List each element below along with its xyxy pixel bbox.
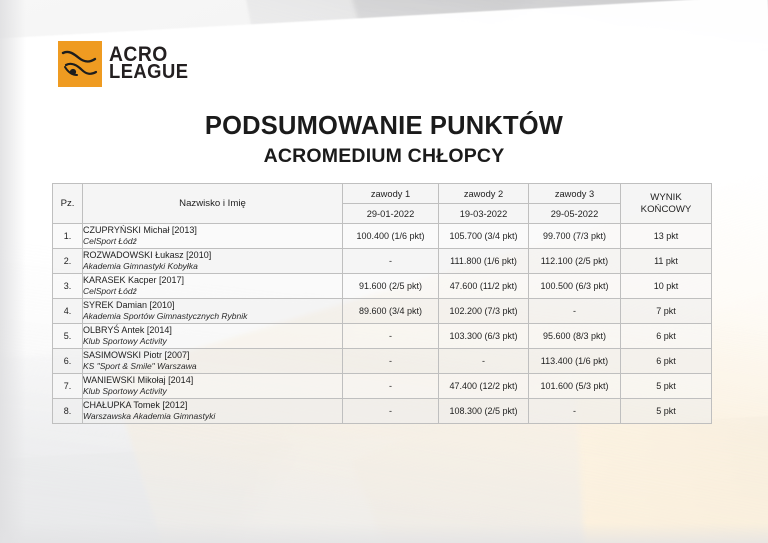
cell-final-score: 5 pkt	[621, 374, 712, 399]
athlete-name: CHAŁUPKA Tomek [2012]	[83, 400, 342, 411]
cell-event-1: -	[343, 399, 439, 424]
table-row: 5. OLBRYŚ Antek [2014] Klub Sportowy Act…	[53, 324, 712, 349]
logo-line-league: LEAGUE	[109, 64, 188, 82]
cell-event-2: 102.200 (7/3 pkt)	[439, 299, 529, 324]
column-header-event-3-date: 29-05-2022	[529, 204, 621, 224]
cell-event-1: 100.400 (1/6 pkt)	[343, 224, 439, 249]
cell-event-2: 47.400 (12/2 pkt)	[439, 374, 529, 399]
cell-rank: 2.	[53, 249, 83, 274]
final-score-label-line2: KOŃCOWY	[641, 204, 692, 215]
cell-final-score: 10 pkt	[621, 274, 712, 299]
table-row: 7. WANIEWSKI Mikołaj [2014] Klub Sportow…	[53, 374, 712, 399]
cell-final-score: 11 pkt	[621, 249, 712, 274]
cell-final-score: 5 pkt	[621, 399, 712, 424]
athlete-name: CZUPRYŃSKI Michał [2013]	[83, 225, 342, 236]
column-header-rank: Pz.	[53, 184, 83, 224]
logo-wordmark: ACRO LEAGUE	[109, 46, 195, 82]
cell-event-2: 103.300 (6/3 pkt)	[439, 324, 529, 349]
table-row: 4. SYREK Damian [2010] Akademia Sportów …	[53, 299, 712, 324]
cell-name: SASIMOWSKI Piotr [2007] KS "Sport & Smil…	[83, 349, 343, 374]
club-name: Akademia Sportów Gimnastycznych Rybnik	[83, 311, 342, 321]
athlete-name: ROZWADOWSKI Łukasz [2010]	[83, 250, 342, 261]
cell-rank: 6.	[53, 349, 83, 374]
column-header-name: Nazwisko i Imię	[83, 184, 343, 224]
cell-event-3: 100.500 (6/3 pkt)	[529, 274, 621, 299]
cell-rank: 5.	[53, 324, 83, 349]
club-name: CelSport Łódź	[83, 286, 342, 296]
acrobat-figure-icon	[58, 41, 102, 87]
cell-final-score: 7 pkt	[621, 299, 712, 324]
cell-event-3: 101.600 (5/3 pkt)	[529, 374, 621, 399]
cell-event-2: 108.300 (2/5 pkt)	[439, 399, 529, 424]
cell-event-1: 89.600 (3/4 pkt)	[343, 299, 439, 324]
table-header: Pz. Nazwisko i Imię zawody 1 zawody 2 za…	[53, 184, 712, 224]
cell-event-3: -	[529, 299, 621, 324]
column-header-event-1-date: 29-01-2022	[343, 204, 439, 224]
table-row: 6. SASIMOWSKI Piotr [2007] KS "Sport & S…	[53, 349, 712, 374]
cell-event-3: -	[529, 399, 621, 424]
cell-event-1: -	[343, 249, 439, 274]
table-row: 2. ROZWADOWSKI Łukasz [2010] Akademia Gi…	[53, 249, 712, 274]
cell-event-2: -	[439, 349, 529, 374]
cell-event-1: -	[343, 349, 439, 374]
column-header-event-1: zawody 1	[343, 184, 439, 204]
page-subtitle: ACROMEDIUM CHŁOPCY	[0, 145, 768, 168]
club-name: Klub Sportowy Activity	[83, 336, 342, 346]
column-header-event-2-date: 19-03-2022	[439, 204, 529, 224]
club-name: KS "Sport & Smile" Warszawa	[83, 361, 342, 371]
cell-event-3: 95.600 (8/3 pkt)	[529, 324, 621, 349]
club-name: CelSport Łódź	[83, 236, 342, 246]
cell-rank: 8.	[53, 399, 83, 424]
cell-name: SYREK Damian [2010] Akademia Sportów Gim…	[83, 299, 343, 324]
cell-final-score: 6 pkt	[621, 324, 712, 349]
cell-event-2: 47.600 (11/2 pkt)	[439, 274, 529, 299]
page-title: PODSUMOWANIE PUNKTÓW	[0, 112, 768, 141]
cell-event-1: -	[343, 324, 439, 349]
cell-rank: 4.	[53, 299, 83, 324]
cell-rank: 3.	[53, 274, 83, 299]
background-edge-bottom	[0, 523, 768, 543]
header-row-top: Pz. Nazwisko i Imię zawody 1 zawody 2 za…	[53, 184, 712, 204]
cell-name: CHAŁUPKA Tomek [2012] Warszawska Akademi…	[83, 399, 343, 424]
table-row: 3. KARASEK Kacper [2017] CelSport Łódź 9…	[53, 274, 712, 299]
results-table: Pz. Nazwisko i Imię zawody 1 zawody 2 za…	[52, 183, 712, 424]
background-edge-left	[0, 0, 26, 543]
cell-final-score: 13 pkt	[621, 224, 712, 249]
cell-event-1: -	[343, 374, 439, 399]
athlete-name: OLBRYŚ Antek [2014]	[83, 325, 342, 336]
column-header-event-2: zawody 2	[439, 184, 529, 204]
cell-name: ROZWADOWSKI Łukasz [2010] Akademia Gimna…	[83, 249, 343, 274]
table-body: 1. CZUPRYŃSKI Michał [2013] CelSport Łód…	[53, 224, 712, 424]
cell-rank: 7.	[53, 374, 83, 399]
cell-name: KARASEK Kacper [2017] CelSport Łódź	[83, 274, 343, 299]
acro-league-logo: ACRO LEAGUE	[58, 41, 195, 87]
cell-name: WANIEWSKI Mikołaj [2014] Klub Sportowy A…	[83, 374, 343, 399]
club-name: Warszawska Akademia Gimnastyki	[83, 411, 342, 421]
final-score-label-line1: WYNIK	[650, 192, 681, 203]
club-name: Akademia Gimnastyki Kobyłka	[83, 261, 342, 271]
cell-event-1: 91.600 (2/5 pkt)	[343, 274, 439, 299]
athlete-name: KARASEK Kacper [2017]	[83, 275, 342, 286]
slide-canvas: ACRO LEAGUE PODSUMOWANIE PUNKTÓW ACROMED…	[0, 0, 768, 543]
column-header-event-3: zawody 3	[529, 184, 621, 204]
cell-event-2: 105.700 (3/4 pkt)	[439, 224, 529, 249]
cell-rank: 1.	[53, 224, 83, 249]
cell-event-3: 112.100 (2/5 pkt)	[529, 249, 621, 274]
athlete-name: WANIEWSKI Mikołaj [2014]	[83, 375, 342, 386]
athlete-name: SYREK Damian [2010]	[83, 300, 342, 311]
athlete-name: SASIMOWSKI Piotr [2007]	[83, 350, 342, 361]
cell-event-3: 113.400 (1/6 pkt)	[529, 349, 621, 374]
column-header-final-score: WYNIK KOŃCOWY	[621, 184, 712, 224]
table-row: 1. CZUPRYŃSKI Michał [2013] CelSport Łód…	[53, 224, 712, 249]
club-name: Klub Sportowy Activity	[83, 386, 342, 396]
cell-name: CZUPRYŃSKI Michał [2013] CelSport Łódź	[83, 224, 343, 249]
cell-event-2: 111.800 (1/6 pkt)	[439, 249, 529, 274]
cell-event-3: 99.700 (7/3 pkt)	[529, 224, 621, 249]
cell-name: OLBRYŚ Antek [2014] Klub Sportowy Activi…	[83, 324, 343, 349]
results-table-container: Pz. Nazwisko i Imię zawody 1 zawody 2 za…	[52, 183, 711, 424]
table-row: 8. CHAŁUPKA Tomek [2012] Warszawska Akad…	[53, 399, 712, 424]
cell-final-score: 6 pkt	[621, 349, 712, 374]
